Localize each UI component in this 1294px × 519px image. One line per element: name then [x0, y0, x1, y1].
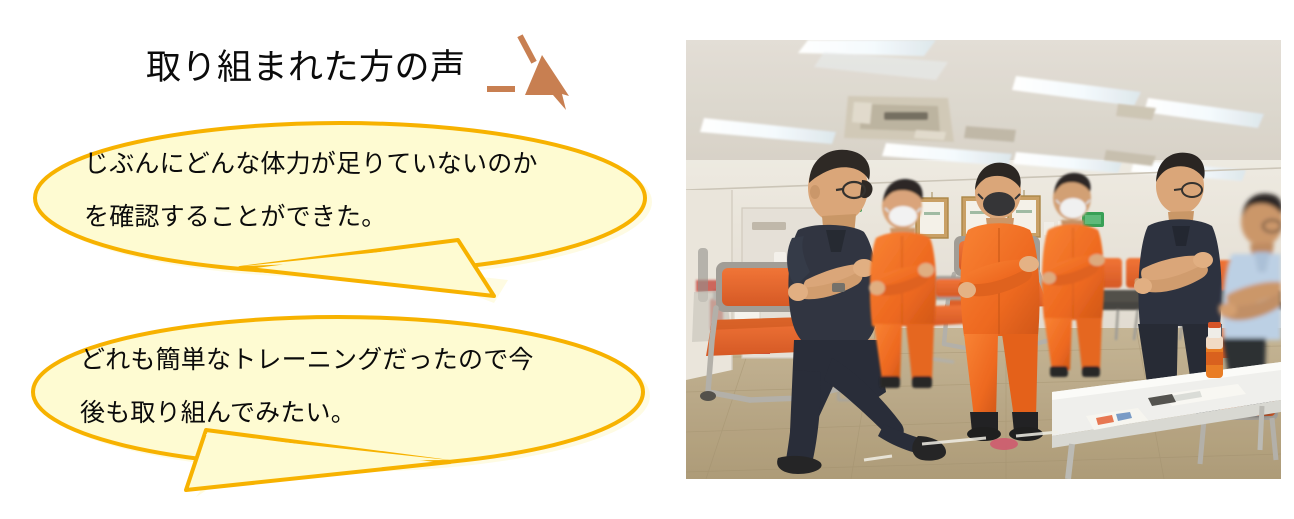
heading-row: 取り組まれた方の声 [146, 46, 616, 102]
photo-content [686, 40, 1281, 479]
testimonial-text-2: どれも簡単なトレーニングだったので今 後も取り組んでみたい。 [80, 334, 625, 440]
testimonial-bubble-1: じぶんにどんな体力が足りていないのか を確認することができた。 [22, 118, 662, 303]
testimonial-bubble-2: どれも簡単なトレーニングだったので今 後も取り組んでみたい。 [20, 312, 660, 497]
testimonial-text-1: じぶんにどんな体力が足りていないのか を確認することができた。 [84, 138, 629, 244]
megaphone-icon [486, 32, 596, 112]
training-session-photo [686, 40, 1281, 479]
page-title: 取り組まれた方の声 [146, 46, 466, 90]
